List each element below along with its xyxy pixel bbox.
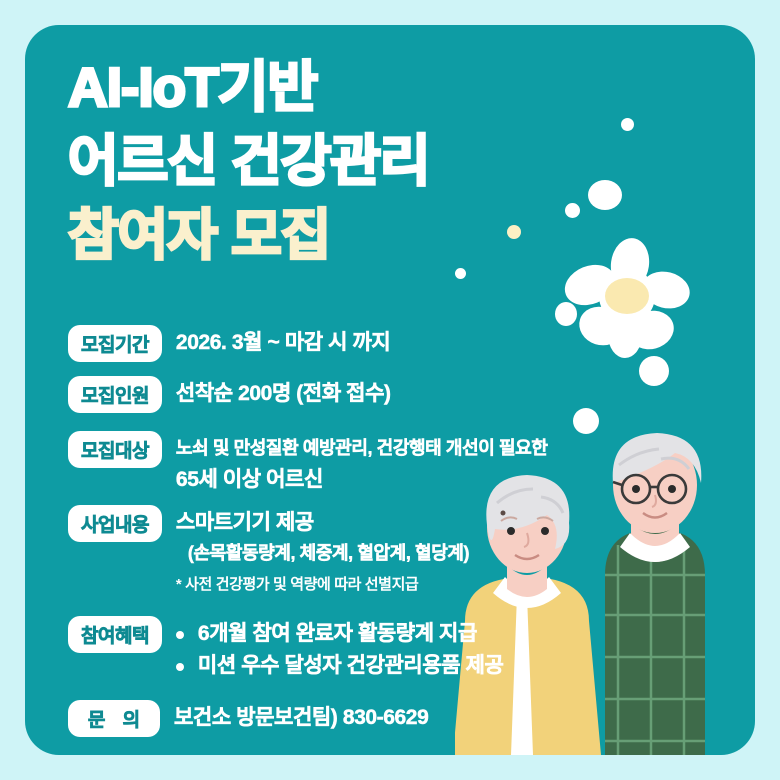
title-line-3: 참여자 모집: [68, 198, 429, 272]
row-content: 사업내용 스마트기기 제공 (손목활동량계, 체중계, 혈압계, 혈당계) * …: [68, 505, 728, 600]
row-content-body: 스마트기기 제공 (손목활동량계, 체중계, 혈압계, 혈당계) * 사전 건강…: [176, 505, 469, 600]
poster-root: AI-IoT기반 어르신 건강관리 참여자 모집 모집기간 2026. 3월 ~…: [0, 0, 780, 780]
title-line-2: 어르신 건강관리: [68, 124, 429, 198]
decor-dot-white: [621, 118, 634, 131]
row-target: 모집대상 노쇠 및 만성질환 예방관리, 건강행태 개선이 필요한 65세 이상…: [68, 431, 728, 495]
label-benefit: 참여혜택: [68, 616, 162, 653]
benefit-list: 6개월 참여 완료자 활동량계 지급 미션 우수 달성자 건강관리용품 제공: [176, 618, 504, 682]
row-period: 모집기간 2026. 3월 ~ 마감 시 까지: [68, 325, 728, 362]
row-benefit: 참여혜택 6개월 참여 완료자 활동량계 지급 미션 우수 달성자 건강관리용품…: [68, 616, 728, 682]
decor-dot-white: [455, 268, 466, 279]
value-content-line-1: 스마트기기 제공: [176, 507, 469, 538]
decor-dot-cream: [507, 225, 521, 239]
value-target-line-1: 노쇠 및 만성질환 예방관리, 건강행태 개선이 필요한: [176, 433, 548, 464]
value-contact: 보건소 방문보건팀) 830-6629: [174, 702, 428, 733]
row-target-body: 노쇠 및 만성질환 예방관리, 건강행태 개선이 필요한 65세 이상 어르신: [176, 431, 548, 495]
title-line-1: AI-IoT기반: [68, 50, 429, 124]
list-item: 미션 우수 달성자 건강관리용품 제공: [176, 650, 504, 682]
decor-dot-white: [588, 180, 622, 210]
value-content-line-2: (손목활동량계, 체중계, 혈압계, 혈당계): [176, 538, 469, 569]
row-count: 모집인원 선착순 200명 (전화 접수): [68, 376, 728, 413]
value-count: 선착순 200명 (전화 접수): [176, 378, 391, 409]
row-contact: 문 의 보건소 방문보건팀) 830-6629: [68, 700, 728, 737]
label-contact: 문 의: [68, 700, 160, 737]
label-period: 모집기간: [68, 325, 162, 362]
row-period-body: 2026. 3월 ~ 마감 시 까지: [176, 325, 390, 358]
poster-card: AI-IoT기반 어르신 건강관리 참여자 모집 모집기간 2026. 3월 ~…: [25, 25, 755, 755]
row-count-body: 선착순 200명 (전화 접수): [176, 376, 391, 409]
row-contact-body: 보건소 방문보건팀) 830-6629: [174, 700, 428, 733]
label-target: 모집대상: [68, 431, 162, 468]
poster-title: AI-IoT기반 어르신 건강관리 참여자 모집: [68, 50, 429, 272]
label-content: 사업내용: [68, 505, 162, 542]
info-rows: 모집기간 2026. 3월 ~ 마감 시 까지 모집인원 선착순 200명 (전…: [68, 325, 728, 739]
list-item: 6개월 참여 완료자 활동량계 지급: [176, 618, 504, 650]
label-count: 모집인원: [68, 376, 162, 413]
value-target-line-2: 65세 이상 어르신: [176, 464, 548, 495]
value-content-note: * 사전 건강평가 및 역량에 따라 선별지급: [176, 569, 469, 600]
row-benefit-body: 6개월 참여 완료자 활동량계 지급 미션 우수 달성자 건강관리용품 제공: [176, 616, 504, 682]
value-period: 2026. 3월 ~ 마감 시 까지: [176, 327, 390, 358]
decor-dot-white: [565, 203, 580, 218]
